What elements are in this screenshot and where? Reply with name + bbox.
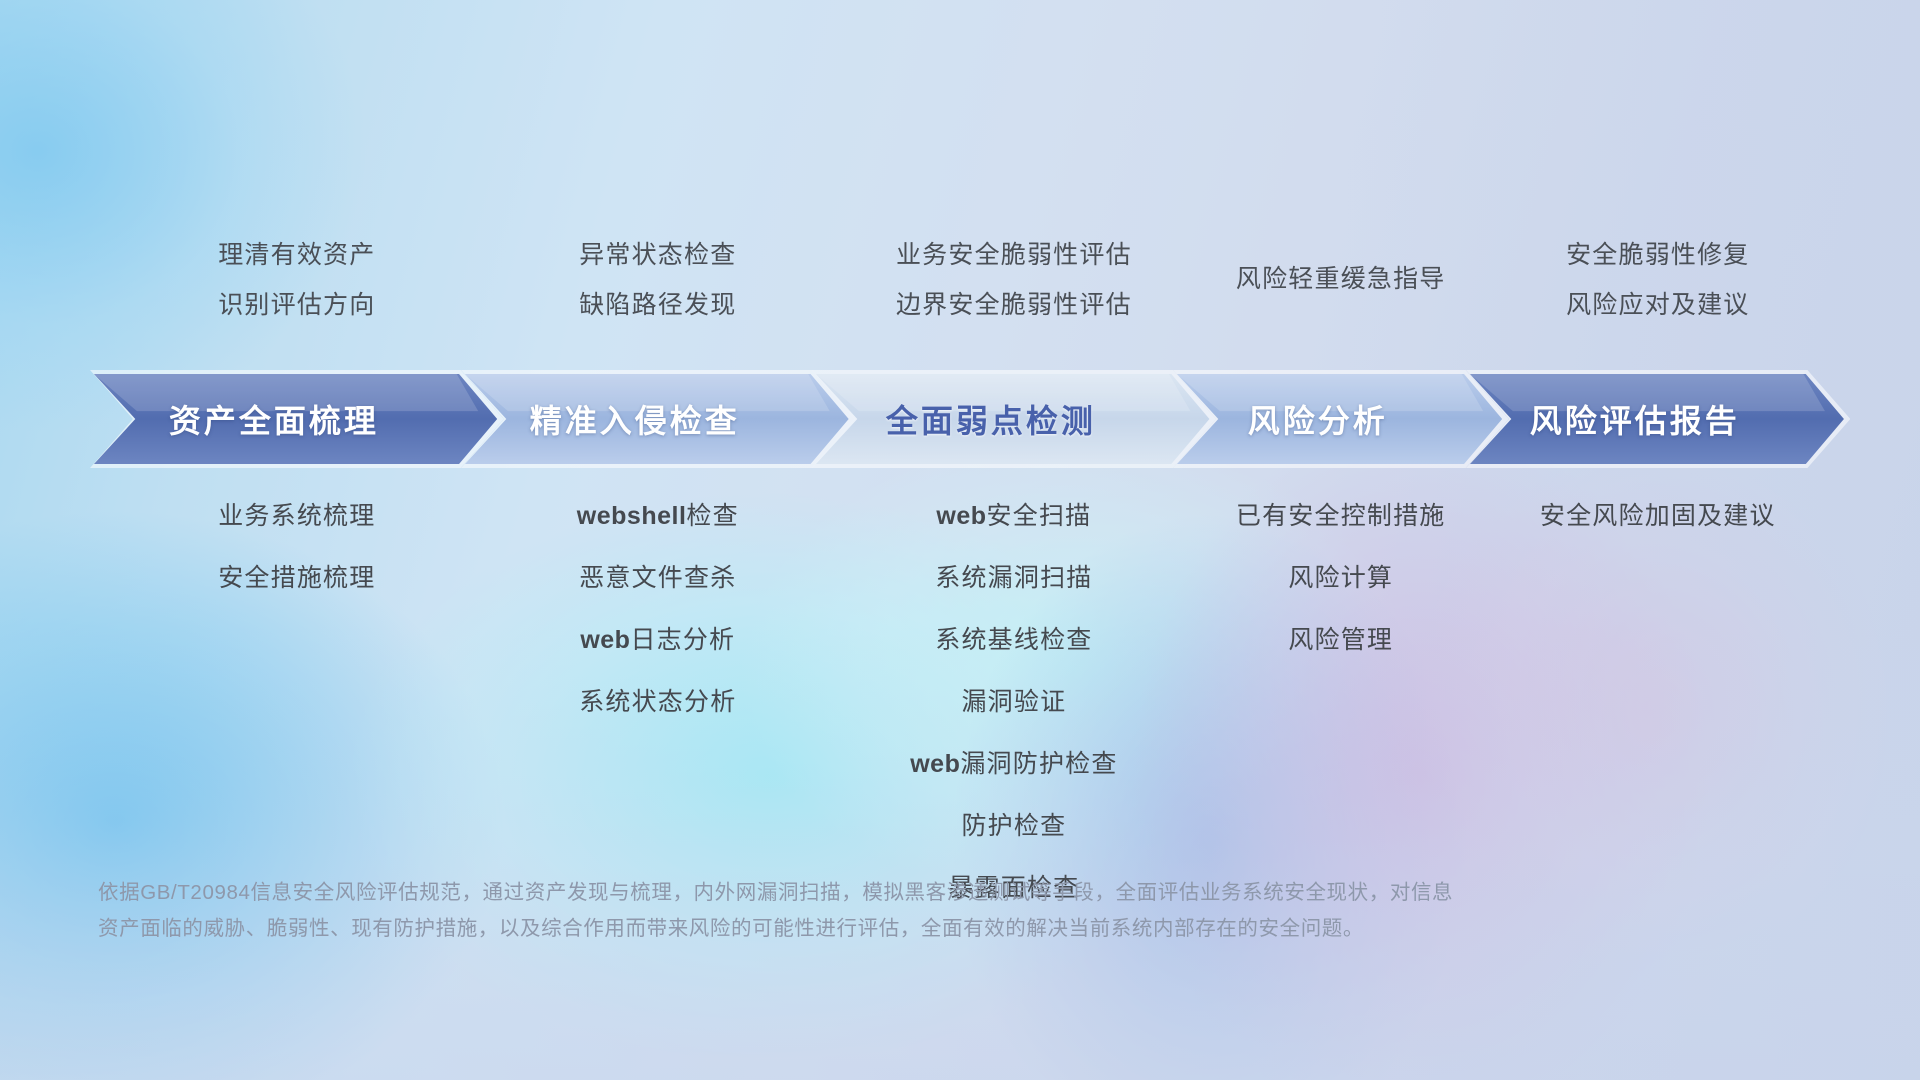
stage-output-label-prefix: web xyxy=(580,626,630,654)
stage-output-column-5: 安全风险加固及建议 xyxy=(1438,492,1878,554)
process-stage-title: 资产全面梳理 xyxy=(169,396,425,442)
stage-output-label-text: 系统基线检查 xyxy=(935,626,1092,654)
stage-output-label-prefix: web xyxy=(910,750,960,778)
stage-output-label-text: 安全风险加固及建议 xyxy=(1540,502,1776,530)
stage-output-label-text: 系统状态分析 xyxy=(579,688,736,716)
process-chevron-banner: 资产全面梳理精准入侵检查全面弱点检测风险分析风险评估报告 xyxy=(90,370,1850,468)
stage-output-label-text: 安全扫描 xyxy=(987,502,1092,530)
stage-output-label-text: 漏洞防护检查 xyxy=(960,750,1117,778)
footnote-description: 依据GB/T20984信息安全风险评估规范，通过资产发现与梳理，内外网漏洞扫描，… xyxy=(98,875,1658,947)
stage-output-label-text: 检查 xyxy=(686,502,738,530)
diagram-content: 理清有效资产识别评估方向异常状态检查缺陷路径发现业务安全脆弱性评估边界安全脆弱性… xyxy=(0,0,1920,1080)
footnote-line-1: 依据GB/T20984信息安全风险评估规范，通过资产发现与梳理，内外网漏洞扫描，… xyxy=(98,875,1658,911)
process-stage-title: 精准入侵检查 xyxy=(530,396,786,442)
process-stage-title: 风险分析 xyxy=(1248,396,1434,442)
stage-output-label: 风险计算 xyxy=(1121,554,1561,602)
stage-output-label-text: 日志分析 xyxy=(630,626,735,654)
stage-output-label-text: 业务系统梳理 xyxy=(218,502,375,530)
stage-output-label-text: 系统漏洞扫描 xyxy=(935,564,1092,592)
stage-output-label-text: 风险计算 xyxy=(1288,564,1393,592)
process-stage-title: 全面弱点检测 xyxy=(886,396,1142,442)
stage-output-label-text: 安全措施梳理 xyxy=(218,564,375,592)
stage-input-label: 安全脆弱性修复 xyxy=(1438,230,1878,280)
stage-output-label-text: 风险管理 xyxy=(1288,626,1393,654)
stage-output-label-text: 恶意文件查杀 xyxy=(579,564,736,592)
process-stage-5[interactable]: 风险评估报告 xyxy=(1466,370,1850,468)
stage-output-label: 防护检查 xyxy=(794,802,1234,850)
stage-input-label: 风险应对及建议 xyxy=(1438,280,1878,330)
stage-output-label: 漏洞验证 xyxy=(794,678,1234,726)
process-stage-title: 风险评估报告 xyxy=(1530,396,1786,442)
stage-output-label-text: 防护检查 xyxy=(961,812,1066,840)
process-stage-3[interactable]: 全面弱点检测 xyxy=(812,370,1216,468)
footnote-line-2: 资产面临的威胁、脆弱性、现有防护措施，以及综合作用而带来风险的可能性进行评估，全… xyxy=(98,911,1658,947)
stage-output-label-prefix: webshell xyxy=(577,502,687,530)
process-stage-1[interactable]: 资产全面梳理 xyxy=(90,370,504,468)
stage-output-label-text: 已有安全控制措施 xyxy=(1236,502,1446,530)
stage-output-label: 安全风险加固及建议 xyxy=(1438,492,1878,540)
process-stage-2[interactable]: 精准入侵检查 xyxy=(461,370,855,468)
stage-output-label: 风险管理 xyxy=(1121,616,1561,664)
stage-output-label: web漏洞防护检查 xyxy=(794,740,1234,788)
stage-input-column-5: 安全脆弱性修复风险应对及建议 xyxy=(1438,230,1878,330)
stage-output-label-text: 漏洞验证 xyxy=(961,688,1066,716)
stage-output-label-prefix: web xyxy=(936,502,986,530)
process-stage-4[interactable]: 风险分析 xyxy=(1173,370,1509,468)
